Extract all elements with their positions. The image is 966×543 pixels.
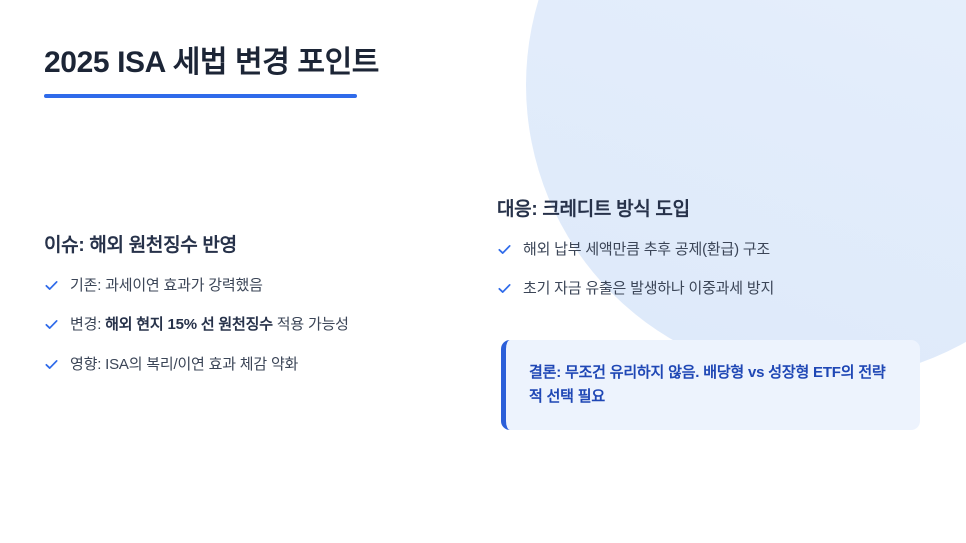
plain-text: 영향: ISA의 복리/이연 효과 체감 약화 <box>70 356 298 373</box>
plain-text: 해외 납부 세액만큼 추후 공제(환급) 구조 <box>523 241 770 258</box>
check-icon <box>44 278 59 293</box>
check-icon <box>44 357 59 372</box>
right-bullet-text: 해외 납부 세액만큼 추후 공제(환급) 구조 <box>523 239 922 261</box>
plain-text: 변경: <box>70 316 105 333</box>
plain-text: 초기 자금 유출은 발생하나 이중과세 방지 <box>523 280 774 297</box>
check-icon <box>497 242 512 257</box>
conclusion-callout-text: 결론: 무조건 유리하지 않음. 배당형 vs 성장형 ETF의 전략적 선택 … <box>506 361 920 409</box>
emphasis-text: 해외 현지 15% 선 원천징수 <box>105 316 273 333</box>
right-bullet-text: 초기 자금 유출은 발생하나 이중과세 방지 <box>523 278 922 300</box>
left-column-heading: 이슈: 해외 원천징수 반영 <box>44 234 454 259</box>
list-item: 해외 납부 세액만큼 추후 공제(환급) 구조 <box>497 239 922 261</box>
left-column: 이슈: 해외 원천징수 반영 기존: 과세이연 효과가 강력했음변경: 해외 현… <box>44 234 454 376</box>
right-bullet-list: 해외 납부 세액만큼 추후 공제(환급) 구조초기 자금 유출은 발생하나 이중… <box>497 239 922 301</box>
title-underline <box>44 94 357 98</box>
left-bullet-list: 기존: 과세이연 효과가 강력했음변경: 해외 현지 15% 선 원천징수 적용… <box>44 275 454 376</box>
slide-canvas: 2025 ISA 세법 변경 포인트 이슈: 해외 원천징수 반영 기존: 과세… <box>0 0 966 543</box>
right-column-heading: 대응: 크레디트 방식 도입 <box>497 198 922 223</box>
conclusion-callout: 결론: 무조건 유리하지 않음. 배당형 vs 성장형 ETF의 전략적 선택 … <box>501 340 920 430</box>
right-column: 대응: 크레디트 방식 도입 해외 납부 세액만큼 추후 공제(환급) 구조초기… <box>497 198 922 300</box>
list-item: 기존: 과세이연 효과가 강력했음 <box>44 275 454 297</box>
list-item: 영향: ISA의 복리/이연 효과 체감 약화 <box>44 354 454 376</box>
title-block: 2025 ISA 세법 변경 포인트 <box>44 44 604 98</box>
left-bullet-text: 기존: 과세이연 효과가 강력했음 <box>70 275 454 297</box>
page-title: 2025 ISA 세법 변경 포인트 <box>44 44 604 82</box>
list-item: 초기 자금 유출은 발생하나 이중과세 방지 <box>497 278 922 300</box>
left-bullet-text: 변경: 해외 현지 15% 선 원천징수 적용 가능성 <box>70 314 454 336</box>
left-bullet-text: 영향: ISA의 복리/이연 효과 체감 약화 <box>70 354 454 376</box>
list-item: 변경: 해외 현지 15% 선 원천징수 적용 가능성 <box>44 314 454 336</box>
check-icon <box>497 281 512 296</box>
plain-text: 기존: 과세이연 효과가 강력했음 <box>70 277 263 294</box>
check-icon <box>44 317 59 332</box>
plain-text: 적용 가능성 <box>273 316 349 333</box>
